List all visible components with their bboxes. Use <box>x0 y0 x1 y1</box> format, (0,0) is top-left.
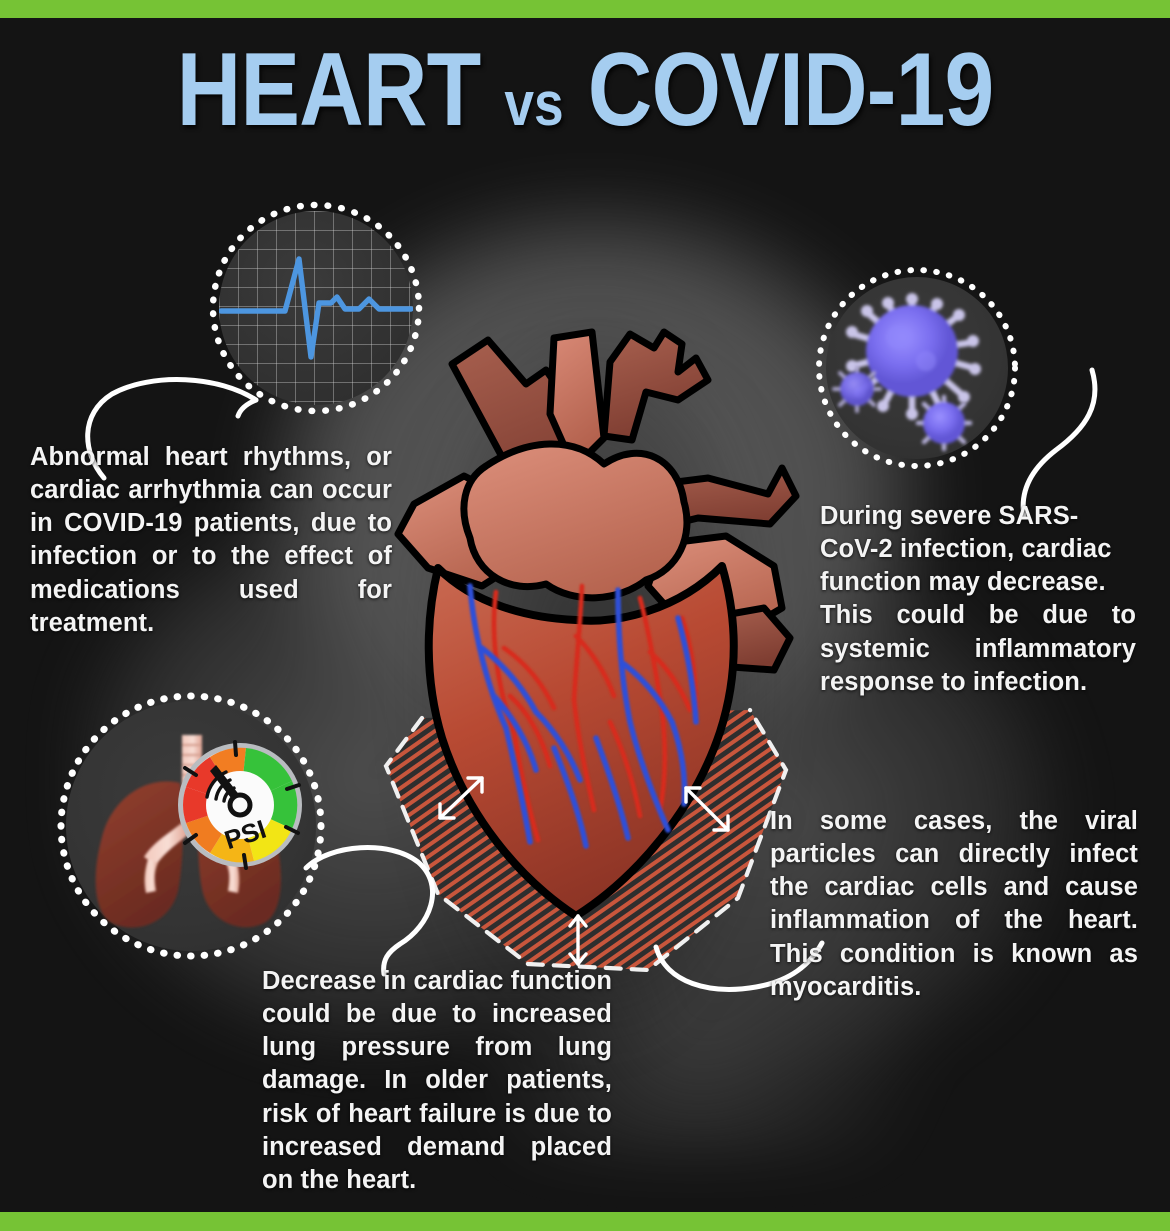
callout-paragraph-1: During severe SARS-CoV-2 infection, card… <box>820 500 1136 599</box>
psi-gauge: PSI <box>178 742 302 868</box>
dotted-ring <box>205 197 427 419</box>
virus-small-left <box>834 367 880 411</box>
page-title: HEART vs COVID-19 <box>82 38 1088 142</box>
top-green-band <box>0 0 1170 18</box>
lungs-pressure-gauge-icon: PSI <box>52 687 330 965</box>
callout-paragraph: In some cases, the viral particles can d… <box>770 805 1138 1004</box>
title-heart: HEART <box>177 32 481 148</box>
heart-illustration <box>378 318 798 963</box>
callout-text-lung-pressure: Decrease in cardiac function could be du… <box>262 965 612 1197</box>
title-vs: vs <box>504 70 563 139</box>
callout-paragraph: Decrease in cardiac function could be du… <box>262 965 612 1197</box>
coronavirus-particles-icon <box>812 263 1022 473</box>
bottom-green-band <box>0 1212 1170 1231</box>
callout-text-myocarditis: In some cases, the viral particles can d… <box>770 805 1138 1004</box>
callout-paragraph-2: This could be due to systemic inflammato… <box>820 599 1136 698</box>
callout-text-cardiac-function: During severe SARS-CoV-2 infection, card… <box>820 500 1136 699</box>
callout-paragraph: Abnormal heart rhythms, or cardiac arrhy… <box>30 441 392 640</box>
lungs-gauge-art: PSI <box>52 687 330 965</box>
ecg-waveform-icon <box>205 197 427 419</box>
virus-art <box>812 263 1022 473</box>
virus-small-bottom <box>918 397 970 449</box>
infographic-poster: HEART vs COVID-19 <box>0 0 1170 1231</box>
title-covid: COVID-19 <box>588 32 994 148</box>
connector-cardiac-function <box>1010 370 1140 520</box>
callout-text-arrhythmia: Abnormal heart rhythms, or cardiac arrhy… <box>30 441 392 640</box>
